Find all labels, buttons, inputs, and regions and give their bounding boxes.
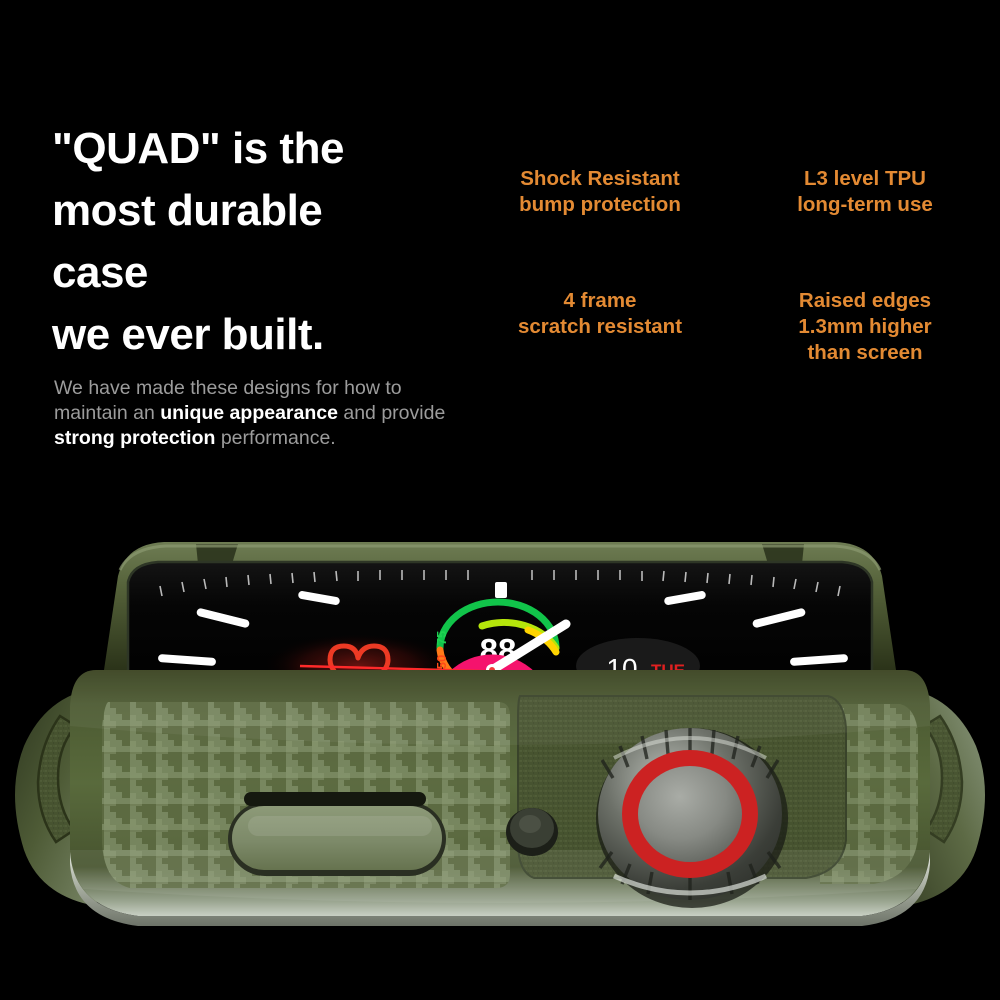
subtitle-emphasis-appearance: unique appearance: [160, 402, 338, 424]
feature-shock-line-1: Shock Resistant: [470, 166, 730, 192]
hour-marker-12: [495, 582, 507, 598]
feature-edges-line-3: than screen: [735, 340, 995, 366]
headline-line-4: we ever built.: [52, 304, 472, 366]
feature-frame-line-1: 4 frame: [470, 288, 730, 314]
case-body: [70, 670, 930, 926]
feature-l3-tpu: L3 level TPU long-term use: [735, 166, 995, 218]
feature-raised-edges: Raised edges 1.3mm higher than screen: [735, 288, 995, 366]
crown-center: [638, 766, 742, 862]
subtitle-line-1: We have made these designs for how: [54, 377, 380, 399]
subtitle-line-3-post: performance.: [215, 427, 335, 449]
gauge-label-top: 75: [434, 631, 449, 645]
digital-crown[interactable]: [596, 728, 788, 908]
feature-tpu-line-2: long-term use: [735, 192, 995, 218]
headline-line-3: case: [52, 242, 472, 304]
feature-shock-line-2: bump protection: [470, 192, 730, 218]
subtitle-line-3-pre: provide: [381, 402, 445, 424]
gauge-label-bottom: 50: [434, 655, 449, 669]
subtitle-line-2-post: and: [338, 402, 376, 424]
feature-tpu-line-1: L3 level TPU: [735, 166, 995, 192]
side-button[interactable]: [228, 792, 446, 876]
page-title: "QUAD" is the most durable case we ever …: [52, 118, 472, 366]
feature-shock-resistant: Shock Resistant bump protection: [470, 166, 730, 218]
microphone-button[interactable]: [506, 808, 558, 856]
feature-edges-line-1: Raised edges: [735, 288, 995, 314]
feature-frame-line-2: scratch resistant: [470, 314, 730, 340]
subtitle-emphasis-protection: strong protection: [54, 427, 215, 449]
subtitle-paragraph: We have made these designs for how to ma…: [54, 376, 454, 451]
headline-line-2: most durable: [52, 180, 472, 242]
product-marketing-image: "QUAD" is the most durable case we ever …: [0, 0, 1000, 1000]
product-photo-watch-case: 88 75 50 10 TUE: [0, 520, 1000, 940]
feature-4-frame: 4 frame scratch resistant: [470, 288, 730, 340]
feature-edges-line-2: 1.3mm higher: [735, 314, 995, 340]
headline-line-1: "QUAD" is the: [52, 118, 472, 180]
